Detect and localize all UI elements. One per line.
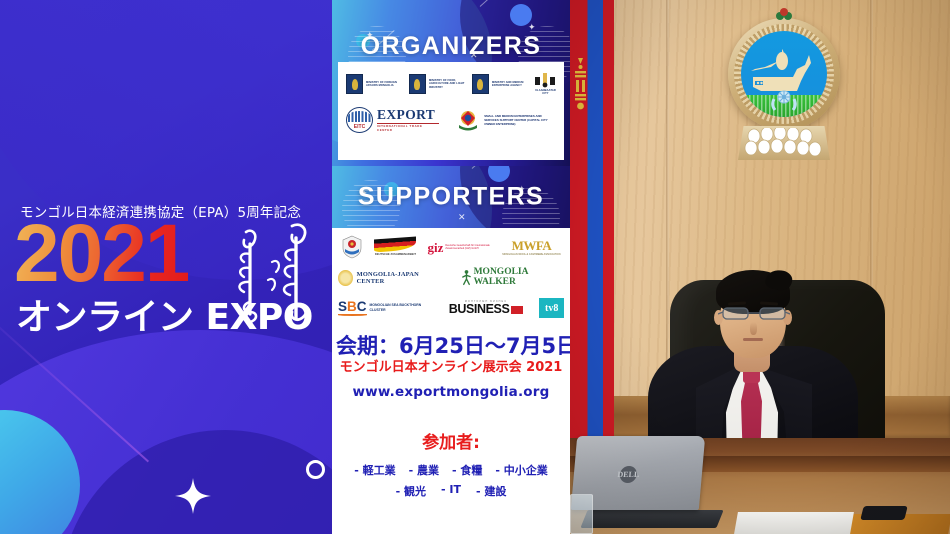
laptop-keyboard-base	[580, 510, 723, 528]
eyeglasses-icon	[718, 306, 790, 320]
business-red-mark	[511, 306, 523, 314]
logo-sme-support-center: SMALL AND MEDIUM ENTERPRISES AND SERVICE…	[456, 109, 556, 131]
mouth	[743, 338, 763, 341]
logo-sbc: SBC MONGOLIAN SEA BUCKTHORN CLUSTER	[338, 300, 433, 317]
logo-eitc: EXPORT INTERNATIONAL TRADE CENTER	[346, 107, 439, 133]
participants-row-2: - 観光 - IT - 建設	[336, 483, 566, 499]
mongolian-flag	[570, 0, 614, 468]
logo-ulaanbaatar-city: ULAANBAATAR CITY	[535, 73, 556, 96]
logo-ministry-food-agriculture: MINISTRY OF FOOD, AGRICULTURE AND LIGHT …	[409, 74, 465, 94]
emblem-dharma-wheel-icon	[769, 89, 799, 111]
supporter-logo-row-3: SBC MONGOLIAN SEA BUCKTHORN CLUSTER МОНГ…	[338, 293, 564, 323]
sparkle-icon: ✕	[458, 212, 466, 223]
logo-ministry-of-foreign-affairs: MINISTRY OF FOREIGN AFFAIRS MONGOLIA	[346, 74, 402, 94]
logo-business: МОНГОЛЫН БИЗНЕС BUSINESS	[449, 300, 524, 316]
event-subtitle: モンゴル日本オンライン展示会 2021	[336, 360, 566, 376]
soyombo-icon	[572, 56, 589, 118]
sparkle-star-icon	[175, 478, 211, 514]
supporter-logo-row-1: DEUTSCHE ZUSAMMENARBEIT giz Deutsche Ges…	[338, 232, 564, 262]
mobile-phone	[860, 506, 907, 520]
logo-german-cooperation: DEUTSCHE ZUSAMMENARBEIT	[374, 238, 416, 256]
office-photo: DELL	[570, 0, 950, 534]
eitc-globe-icon	[346, 107, 373, 133]
soyombo-crest-icon	[346, 74, 363, 94]
logo-giz: giz Deutsche Gesellschaft für Internatio…	[427, 241, 491, 254]
participant-item: - 中小企業	[495, 462, 547, 478]
emblem-winged-horse-icon	[749, 47, 819, 95]
participant-item: - IT	[441, 483, 461, 499]
sbc-underline	[338, 314, 367, 316]
emblem-chandmani-icon	[774, 8, 794, 24]
sbc-wordmark: SBC	[338, 300, 367, 317]
logo-ministry-third: MINISTRY AND MEDIUM ENTERPRISE AGENCY	[472, 74, 528, 94]
participant-item: - 食糧	[452, 462, 482, 478]
decorative-ring-icon	[306, 460, 325, 479]
walking-figure-icon	[461, 269, 472, 286]
event-details-block: 会期：6月25日〜7月5日 モンゴル日本オンライン展示会 2021 www.ex…	[332, 329, 570, 499]
event-url[interactable]: www.exportmongolia.org	[336, 384, 566, 400]
water-glass	[570, 494, 593, 534]
ub-city-icon	[535, 73, 555, 88]
emblem-blue-disc	[741, 31, 827, 117]
supporters-heading: SUPPORTERS	[332, 183, 570, 212]
mongolian-state-emblem	[724, 8, 844, 168]
emblem-lotus-petals-icon	[744, 128, 824, 156]
center-info-panel: ✦ ✕ ✦ ORGANIZERS MINISTRY OF FOREIGN AFF…	[332, 0, 570, 534]
participant-item: - 軽工業	[354, 462, 395, 478]
logo-state-crest	[341, 235, 363, 259]
organizers-logo-card: MINISTRY OF FOREIGN AFFAIRS MONGOLIA MIN…	[338, 62, 564, 160]
mongolia-walker-wordmark: MONGOLIA WALKER	[474, 268, 564, 286]
soyombo-crest-icon	[472, 74, 489, 94]
organizers-heading: ORGANIZERS	[332, 32, 570, 61]
event-dates: 会期：6月25日〜7月5日	[336, 335, 566, 359]
ulaanbaatar-coat-of-arms-icon	[456, 109, 480, 131]
logo-mongolia-walker: MONGOLIA WALKER	[461, 268, 564, 286]
dell-logo-icon: DELL	[619, 466, 637, 483]
office-desk: DELL	[570, 438, 950, 534]
sun-emblem-icon	[338, 270, 353, 286]
organizers-header-band: ✦ ✕ ✦ ORGANIZERS MINISTRY OF FOREIGN AFF…	[332, 0, 570, 166]
participants-title: 参加者:	[336, 428, 566, 453]
supporter-logo-row-2: MONGOLIA-JAPAN CENTER MONGOLIA WALKER	[338, 264, 564, 291]
mongolian-script-calligraphy	[228, 218, 328, 328]
participant-item: - 観光	[396, 483, 426, 499]
participant-item: - 建設	[476, 483, 506, 499]
poster-stage: モンゴル日本経済連携協定（EPA）5周年記念 2021 オンライン EXPO	[0, 0, 950, 534]
desk-papers	[734, 512, 854, 534]
nose	[750, 322, 757, 335]
participant-item: - 農業	[409, 462, 439, 478]
supporters-header-band: ✦ ✕ ✦ SUPPORTERS	[332, 166, 570, 228]
logo-mongolia-japan-center: MONGOLIA-JAPAN CENTER	[338, 270, 441, 286]
logo-tv8: tv8	[539, 298, 564, 318]
left-branding-panel: モンゴル日本経済連携協定（EPA）5周年記念 2021 オンライン EXPO	[0, 0, 332, 534]
year-headline: 2021	[14, 213, 188, 295]
organizer-logo-row-1: MINISTRY OF FOREIGN AFFAIRS MONGOLIA MIN…	[346, 68, 556, 100]
german-flag-icon	[374, 237, 416, 253]
organizer-logo-row-2: EXPORT INTERNATIONAL TRADE CENTER	[346, 103, 556, 137]
participants-row-1: - 軽工業 - 農業 - 食糧 - 中小企業	[336, 462, 566, 478]
logo-mwfa: MWFA MONGOLIAN WOOL & CASHMERE ASSOCIATI…	[502, 239, 560, 256]
export-wordmark: EXPORT INTERNATIONAL TRADE CENTER	[377, 108, 439, 132]
supporters-logo-area: DEUTSCHE ZUSAMMENARBEIT giz Deutsche Ges…	[332, 228, 570, 329]
soyombo-crest-icon	[409, 74, 426, 94]
